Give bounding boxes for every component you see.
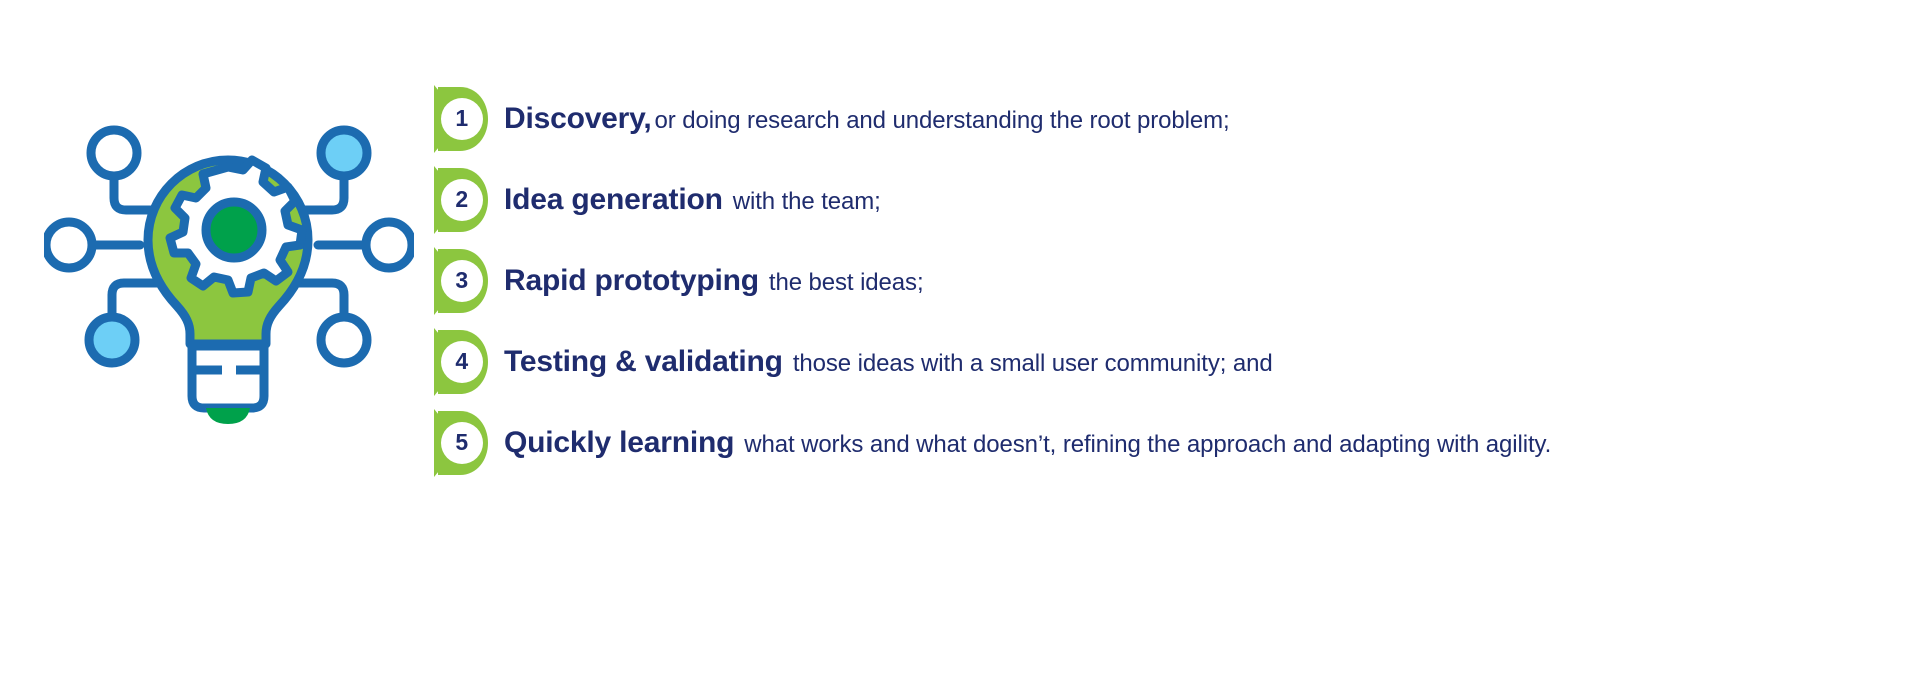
step-title-2: Idea generation (504, 183, 723, 216)
gear-center-hub (206, 202, 262, 258)
step-description-5: what works and what doesn’t, refining th… (744, 431, 1551, 458)
step-badge-5: 5 (430, 409, 490, 477)
step-badge-1: 1 (430, 85, 490, 153)
step-text-5: Quickly learningwhat works and what does… (504, 425, 1551, 461)
step-text-2: Idea generationwith the team; (504, 182, 881, 218)
step-title-1: Discovery, (504, 102, 652, 135)
step-item-3: 3 Rapid prototypingthe best ideas; (430, 240, 1900, 321)
step-item-1: 1 Discovery,or doing research and unders… (430, 78, 1900, 159)
step-text-4: Testing & validatingthose ideas with a s… (504, 344, 1273, 380)
lightbulb-gear-network-icon (44, 118, 414, 438)
step-item-4: 4 Testing & validatingthose ideas with a… (430, 321, 1900, 402)
step-number-5: 5 (430, 409, 490, 477)
node-top-left-circle (91, 130, 137, 176)
step-title-5: Quickly learning (504, 426, 734, 459)
connector-bottom-left (112, 283, 162, 317)
step-description-1: or doing research and understanding the … (655, 107, 1230, 134)
step-badge-4: 4 (430, 328, 490, 396)
node-mid-left-circle (46, 222, 92, 268)
node-bottom-right-circle (321, 317, 367, 363)
steps-list: 1 Discovery,or doing research and unders… (430, 78, 1900, 483)
step-item-2: 2 Idea generationwith the team; (430, 159, 1900, 240)
connector-bottom-right (294, 283, 344, 317)
step-badge-2: 2 (430, 166, 490, 234)
bulb-base (192, 346, 264, 408)
step-badge-3: 3 (430, 247, 490, 315)
bulb-contact-tip (206, 408, 250, 424)
node-bottom-left-circle (89, 317, 135, 363)
step-number-1: 1 (430, 85, 490, 153)
step-description-3: the best ideas; (769, 269, 924, 296)
node-mid-right-circle (366, 222, 412, 268)
step-number-2: 2 (430, 166, 490, 234)
step-text-3: Rapid prototypingthe best ideas; (504, 263, 924, 299)
step-description-2: with the team; (733, 188, 881, 215)
step-description-4: those ideas with a small user community;… (793, 350, 1273, 377)
infographic-canvas: 1 Discovery,or doing research and unders… (0, 0, 1920, 680)
step-number-3: 3 (430, 247, 490, 315)
step-title-3: Rapid prototyping (504, 264, 759, 297)
step-title-4: Testing & validating (504, 345, 783, 378)
step-item-5: 5 Quickly learningwhat works and what do… (430, 402, 1900, 483)
step-number-4: 4 (430, 328, 490, 396)
node-top-right-circle (321, 130, 367, 176)
step-text-1: Discovery,or doing research and understa… (504, 101, 1230, 137)
